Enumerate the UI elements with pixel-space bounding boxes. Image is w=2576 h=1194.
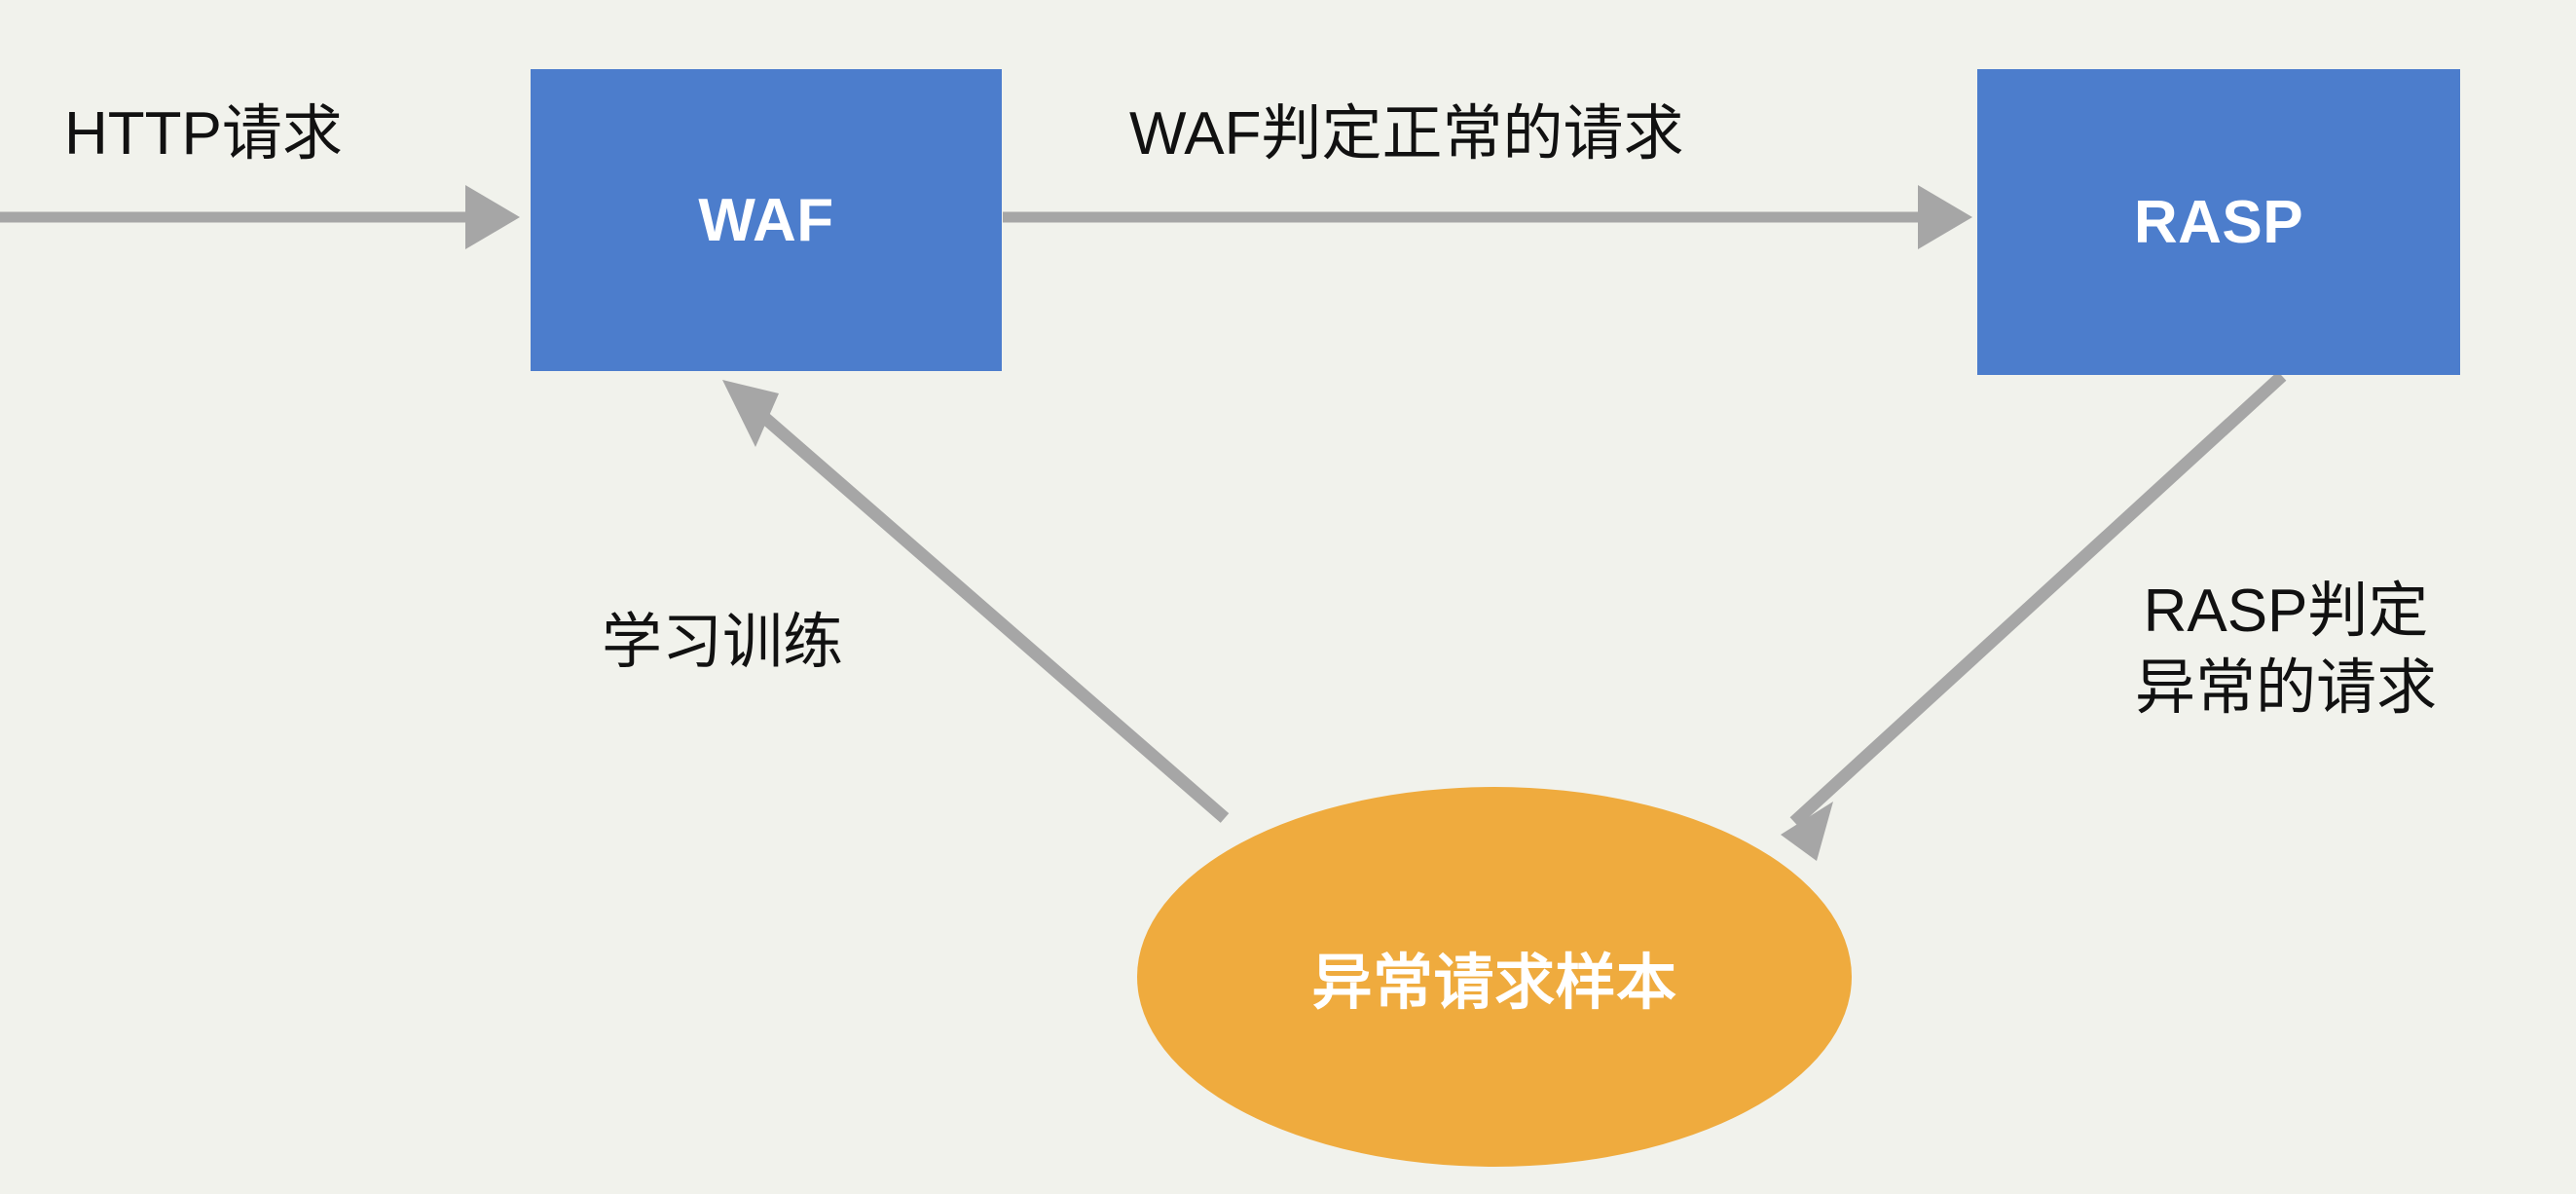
diagram-canvas: WAF RASP 异常请求样本 HTTP请求 WAF判定正常的请求 学习训练 R…	[0, 0, 2576, 1194]
edge-label-rasp-abnormal-request: RASP判定 异常的请求	[2091, 573, 2481, 728]
node-rasp[interactable]: RASP	[1977, 69, 2460, 375]
node-sample-label: 异常请求样本	[1311, 933, 1676, 1021]
node-abnormal-request-sample[interactable]: 异常请求样本	[1137, 787, 1852, 1167]
edge-label-http-request: HTTP请求	[64, 95, 343, 172]
edge-label-rasp-abnormal-line2: 异常的请求	[2091, 650, 2481, 727]
arrow-waf-to-rasp	[1003, 185, 1972, 249]
edge-label-learning-training: 学习训练	[602, 604, 843, 681]
edge-label-rasp-abnormal-line1: RASP判定	[2091, 573, 2481, 650]
arrow-http-to-waf	[0, 185, 520, 249]
edge-label-waf-normal-request: WAF判定正常的请求	[1129, 95, 1683, 172]
node-rasp-label: RASP	[2134, 188, 2303, 257]
node-waf-label: WAF	[698, 186, 833, 255]
node-waf[interactable]: WAF	[531, 69, 1002, 371]
arrow-sample-to-waf	[722, 380, 1225, 818]
